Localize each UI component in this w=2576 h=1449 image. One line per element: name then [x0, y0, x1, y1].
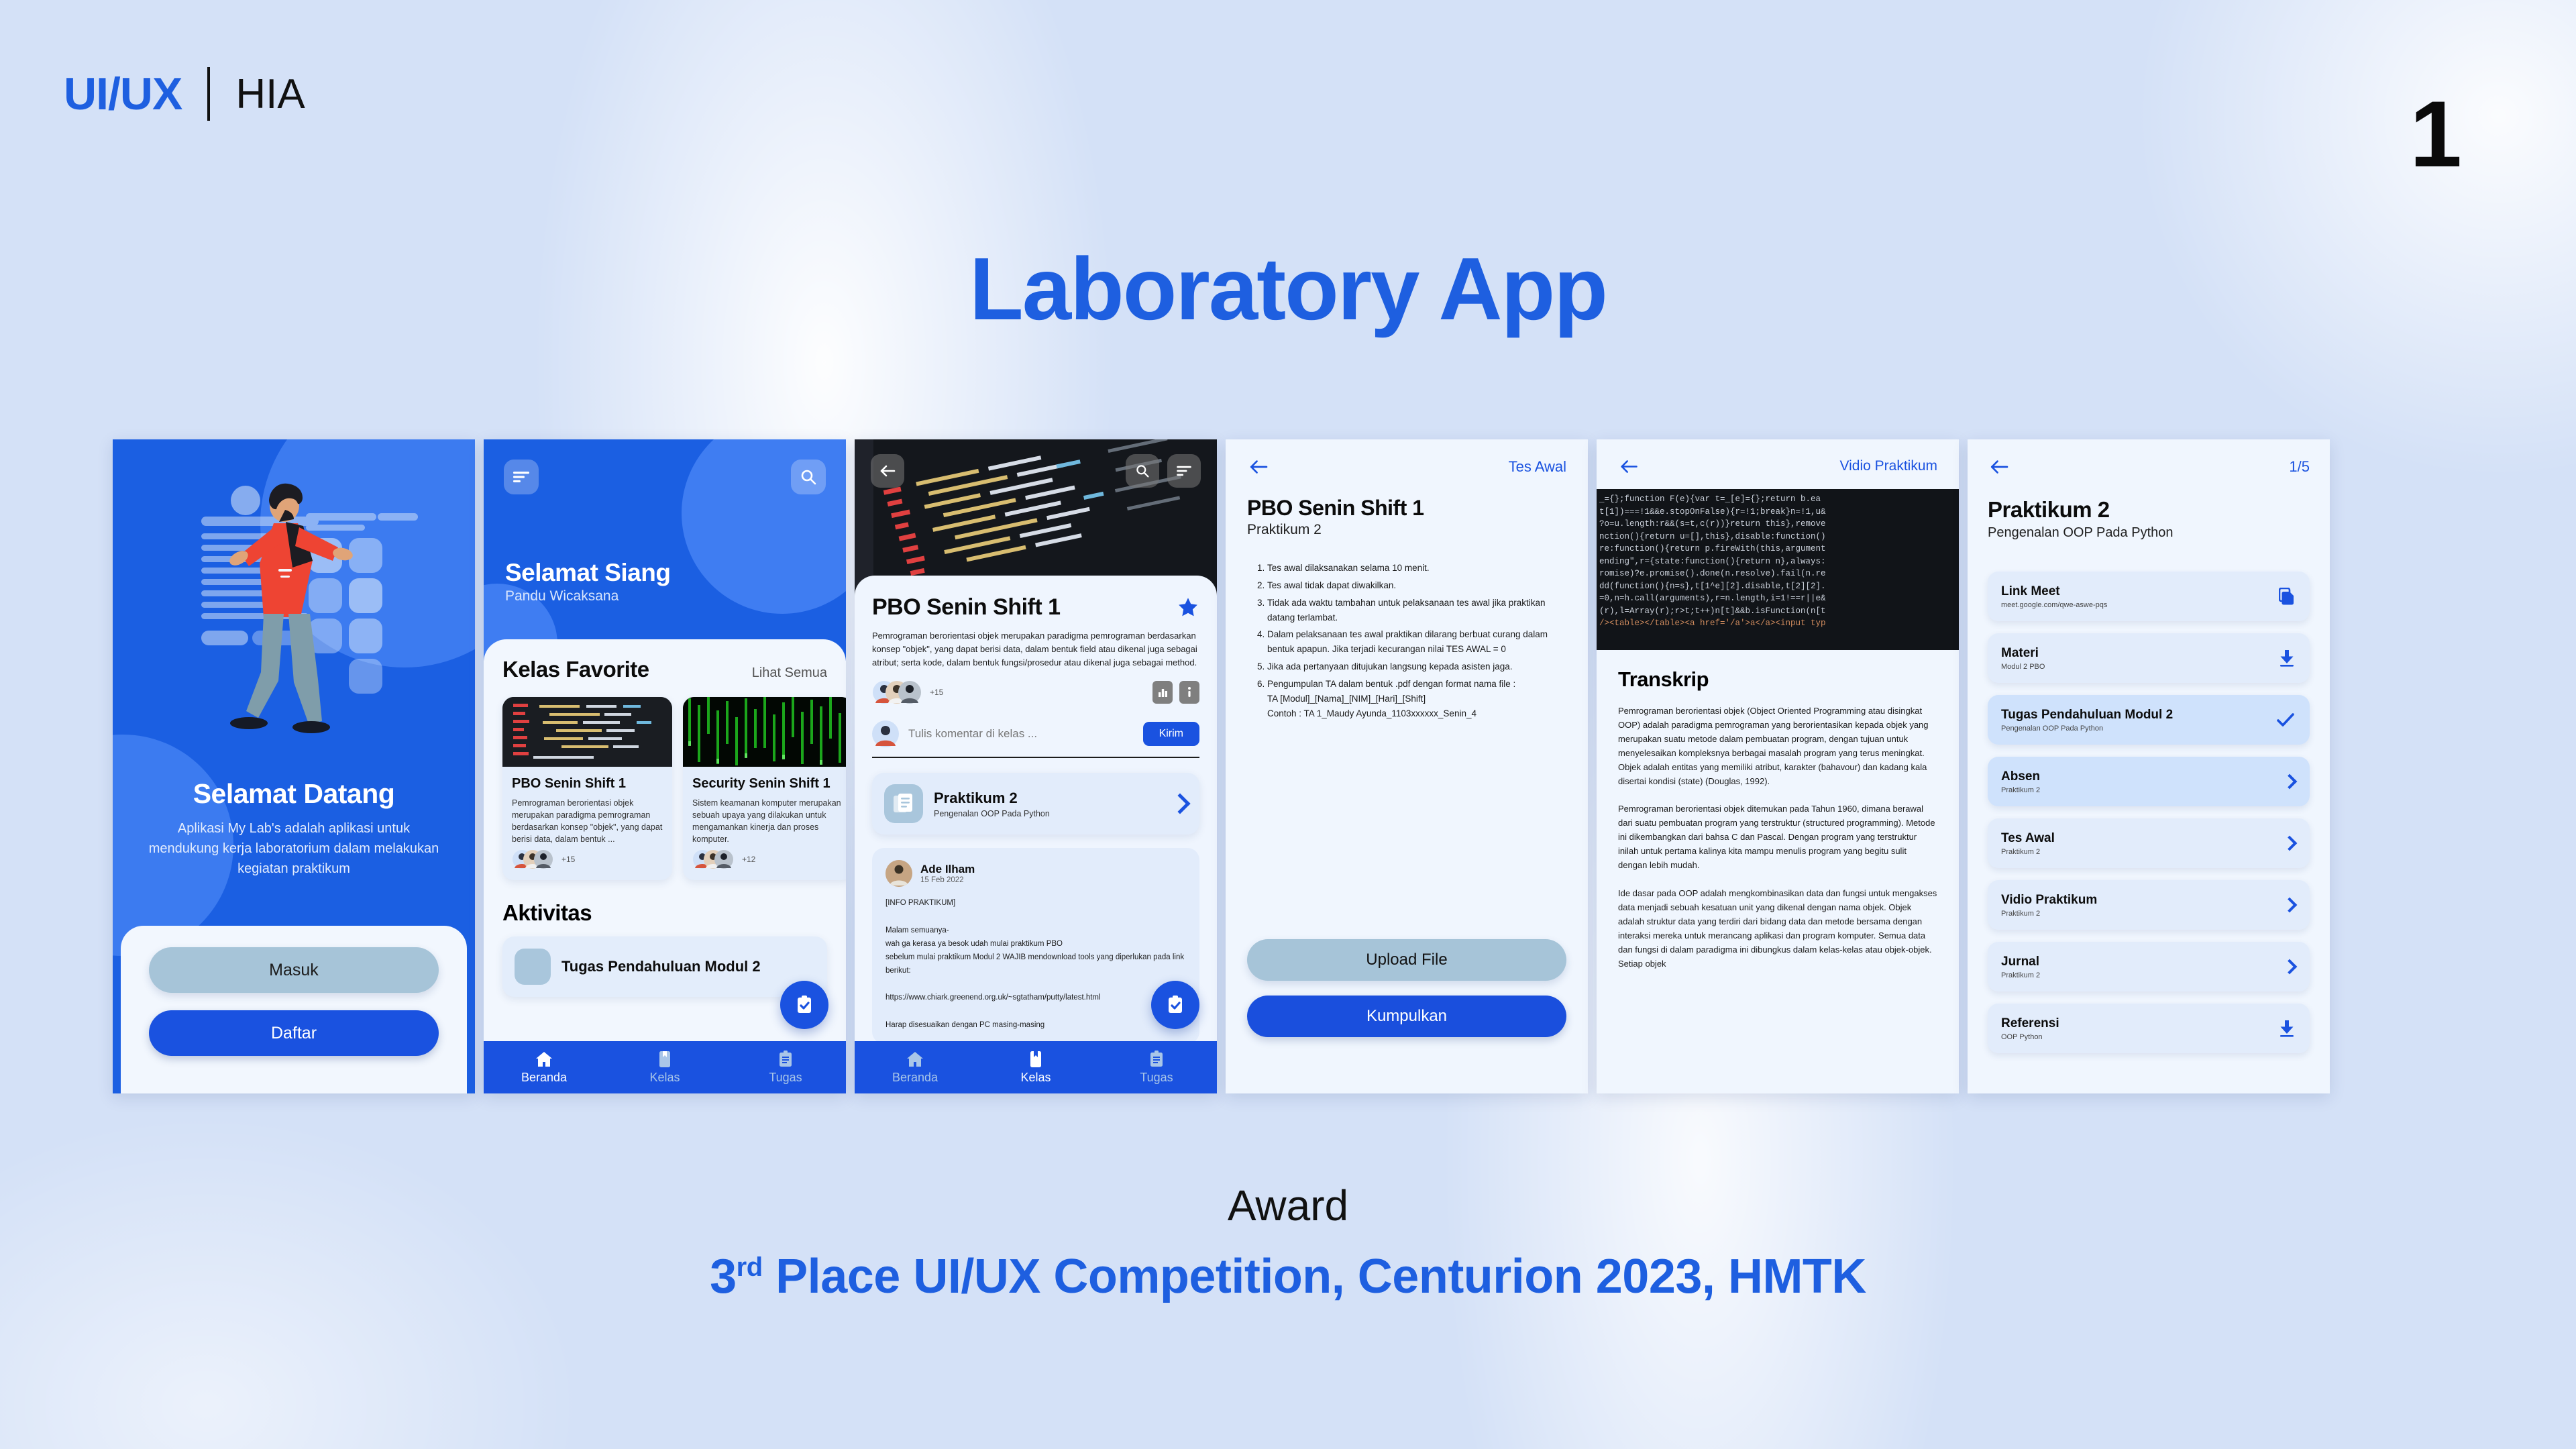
menu-icon[interactable]	[1167, 454, 1201, 488]
menu-row-link-meet[interactable]: Link Meet meet.google.com/qwe-aswe-pqs	[1988, 572, 2310, 621]
code-line: romise)?e.promise().done(n.resolve).fail…	[1597, 568, 1959, 580]
chevron-right-icon	[2282, 959, 2298, 975]
page-indicator: 1/5	[2289, 458, 2310, 476]
award-text: 3rd Place UI/UX Competition, Centurion 2…	[0, 1249, 2576, 1304]
home-topbar	[504, 460, 826, 494]
award-title: Place UI/UX Competition, Centurion 2023,…	[763, 1250, 1866, 1303]
post-date: 15 Feb 2022	[920, 876, 975, 884]
home-greeting-block: Selamat Siang Pandu Wicaksana	[505, 559, 670, 604]
praktikum-topbar: 1/5	[1988, 458, 2310, 476]
chevron-right-icon	[1169, 794, 1190, 814]
menu-row-title: Vidio Praktikum	[2001, 893, 2097, 908]
menu-row-text: Link Meet meet.google.com/qwe-aswe-pqs	[2001, 584, 2107, 609]
post-header: Ade Ilham 15 Feb 2022	[885, 860, 1186, 887]
tes-awal-actions: Upload File Kumpulkan	[1247, 939, 1566, 1037]
code-line: _={};function F(e){var t=_[e]={};return …	[1597, 493, 1959, 506]
nav-item-kelas[interactable]: Kelas	[604, 1041, 725, 1093]
menu-row-title: Tugas Pendahuluan Modul 2	[2001, 708, 2173, 722]
praktikum-menu-subtitle: Pengenalan OOP Pada Python	[1988, 525, 2310, 541]
praktikum-menu-list: Link Meet meet.google.com/qwe-aswe-pqs M…	[1988, 572, 2310, 1053]
code-line: nction(){return u=[],this},disable:funct…	[1597, 531, 1959, 543]
favorite-class-cards: PBO Senin Shift 1 Pemrograman berorienta…	[502, 697, 827, 880]
nav-label: Kelas	[649, 1071, 680, 1085]
award-label: Award	[0, 1181, 2576, 1230]
avatar-group	[692, 849, 737, 869]
clipboard-icon	[778, 1051, 793, 1068]
nav-item-beranda[interactable]: Beranda	[855, 1041, 975, 1093]
transcript-paragraph: Pemrograman berorientasi objek (Object O…	[1618, 704, 1937, 788]
menu-row-subtitle: meet.google.com/qwe-aswe-pqs	[2001, 601, 2107, 609]
menu-row-title: Jurnal	[2001, 955, 2040, 969]
class-card[interactable]: PBO Senin Shift 1 Pemrograman berorienta…	[502, 697, 672, 880]
class-meta-actions	[1152, 681, 1199, 704]
avatar	[885, 860, 912, 887]
rule-item: Jika ada pertanyaan ditujukan langsung k…	[1267, 659, 1566, 674]
search-icon[interactable]	[1126, 454, 1159, 488]
topbar-title: Tes Awal	[1509, 458, 1566, 476]
info-icon[interactable]	[1179, 681, 1199, 704]
nav-item-beranda[interactable]: Beranda	[484, 1041, 604, 1093]
send-comment-button[interactable]: Kirim	[1143, 722, 1199, 746]
code-line: dd(function(){n=s},t[1^e][2].disable,t[2…	[1597, 580, 1959, 593]
chevron-right-icon	[2282, 898, 2298, 913]
phone-screen-home: Selamat Siang Pandu Wicaksana Kelas Favo…	[484, 439, 846, 1093]
class-card-desc: Pemrograman berorientasi objek merupakan…	[512, 797, 663, 845]
home-icon	[535, 1051, 553, 1068]
phone-screen-tes-awal: Tes Awal PBO Senin Shift 1 Praktikum 2 T…	[1226, 439, 1588, 1093]
menu-row-tes-awal[interactable]: Tes Awal Praktikum 2	[1988, 818, 2310, 868]
page-number: 1	[2410, 87, 2462, 181]
award-ordinal-suffix: rd	[737, 1252, 763, 1282]
welcome-description: Aplikasi My Lab's adalah aplikasi untuk …	[148, 818, 440, 879]
brand-hia-label: HIA	[235, 70, 305, 118]
nav-label: Kelas	[1020, 1071, 1051, 1085]
add-task-fab[interactable]	[780, 981, 828, 1029]
bookmark-icon	[658, 1051, 672, 1068]
nav-label: Beranda	[521, 1071, 567, 1085]
clipboard-check-icon	[1165, 994, 1186, 1016]
post-author: Ade Ilham	[920, 863, 975, 876]
avatar	[872, 720, 899, 747]
upload-file-button[interactable]: Upload File	[1247, 939, 1566, 981]
menu-row-text: Referensi OOP Python	[2001, 1016, 2059, 1041]
menu-row-text: Materi Modul 2 PBO	[2001, 646, 2045, 671]
rule-item: Tes awal dilaksanakan selama 10 menit.	[1267, 561, 1566, 576]
phone-screen-vidio-praktikum: Vidio Praktikum _={};function F(e){var t…	[1597, 439, 1959, 1093]
tes-awal-rules: Tes awal dilaksanakan selama 10 menit. T…	[1247, 561, 1566, 721]
back-icon[interactable]	[1618, 459, 1640, 474]
clipboard-check-icon	[794, 994, 815, 1016]
nav-label: Beranda	[892, 1071, 938, 1085]
nav-item-tugas[interactable]: Tugas	[725, 1041, 846, 1093]
brand-uiux-label: UI/UX	[64, 68, 182, 120]
nav-item-kelas[interactable]: Kelas	[975, 1041, 1096, 1093]
rule-item: Tes awal tidak dapat diwakilkan.	[1267, 578, 1566, 593]
class-title-row: PBO Senin Shift 1	[872, 594, 1199, 621]
class-card-title: PBO Senin Shift 1	[512, 776, 663, 792]
menu-row-jurnal[interactable]: Jurnal Praktikum 2	[1988, 942, 2310, 991]
menu-row-vidio-praktikum[interactable]: Vidio Praktikum Praktikum 2	[1988, 880, 2310, 930]
praktikum-menu-title: Praktikum 2	[1988, 497, 2310, 523]
back-icon[interactable]	[1988, 459, 2010, 475]
class-card-body: PBO Senin Shift 1 Pemrograman berorienta…	[502, 767, 672, 880]
menu-row-text: Tes Awal Praktikum 2	[2001, 831, 2055, 856]
post-body: [INFO PRAKTIKUM] Malam semuanya- wah ga …	[885, 896, 1186, 1031]
rule-item: Tidak ada waktu tambahan untuk pelaksana…	[1267, 596, 1566, 625]
tes-awal-topbar: Tes Awal	[1247, 458, 1566, 476]
code-line: =0,n=h.call(arguments),r=n.length,i=1!==…	[1597, 592, 1959, 605]
brand-header: UI/UX HIA	[64, 67, 305, 121]
menu-row-subtitle: Praktikum 2	[2001, 971, 2040, 979]
rule-format-example: Contoh : TA 1_Maudy Ayunda_1103xxxxxx_Se…	[1267, 706, 1566, 721]
nav-label: Tugas	[1140, 1071, 1173, 1085]
menu-row-title: Tes Awal	[2001, 831, 2055, 846]
page-title: Laboratory App	[0, 238, 2576, 339]
transcript-paragraph: Ide dasar pada OOP adalah mengkombinasik…	[1618, 886, 1937, 971]
activity-section-title: Aktivitas	[502, 900, 827, 926]
menu-row-subtitle: Praktikum 2	[2001, 786, 2040, 794]
menu-row-title: Materi	[2001, 646, 2045, 661]
menu-row-text: Absen Praktikum 2	[2001, 769, 2040, 794]
class-card[interactable]: Security Senin Shift 1 Sistem keamanan k…	[683, 697, 846, 880]
rule-item: Dalam pelaksanaan tes awal praktikan dil…	[1267, 627, 1566, 657]
see-all-link[interactable]: Lihat Semua	[752, 665, 827, 681]
check-icon	[2276, 712, 2295, 728]
comment-input[interactable]: Tulis komentar di kelas ...	[908, 727, 1134, 741]
code-line: (r),l=Array(r);r>t;t++)n[t]&&b.isFunctio…	[1597, 605, 1959, 618]
video-player[interactable]: _={};function F(e){var t=_[e]={};return …	[1597, 489, 1959, 650]
phone-screen-praktikum-menu: 1/5 Praktikum 2 Pengenalan OOP Pada Pyth…	[1968, 439, 2330, 1093]
praktikum-title: Praktikum 2	[934, 790, 1162, 807]
praktikum-card-text: Praktikum 2 Pengenalan OOP Pada Python	[934, 790, 1162, 818]
menu-row-subtitle: Modul 2 PBO	[2001, 663, 2045, 671]
class-member-count: +12	[742, 855, 755, 864]
chevron-right-icon	[2282, 836, 2298, 851]
search-icon[interactable]	[791, 460, 826, 494]
award-ordinal: 3	[710, 1250, 737, 1303]
transcript-title: Transkrip	[1618, 667, 1937, 692]
download-icon[interactable]	[2279, 1020, 2295, 1037]
nav-label: Tugas	[769, 1071, 802, 1085]
login-button[interactable]: Masuk	[149, 947, 439, 993]
code-line: ?o=u.length:r&&(s=t,c(r))}return this},r…	[1597, 518, 1959, 531]
class-card-desc: Sistem keamanan komputer merupakan sebua…	[692, 797, 843, 845]
menu-row-title: Referensi	[2001, 1016, 2059, 1031]
menu-row-text: Vidio Praktikum Praktikum 2	[2001, 893, 2097, 918]
brand-divider	[207, 67, 210, 121]
code-line: t[1])===!1&&e.stopOnFalse){r=!1;break}n=…	[1597, 506, 1959, 519]
slide-canvas: UI/UX HIA 1 Laboratory App	[0, 0, 2576, 1449]
stats-icon[interactable]	[1152, 681, 1173, 704]
clipboard-icon	[1149, 1051, 1164, 1068]
copy-icon[interactable]	[2279, 588, 2295, 605]
class-thumbnail	[683, 697, 846, 767]
menu-row-subtitle: Praktikum 2	[2001, 848, 2055, 856]
welcome-title: Selamat Datang	[113, 778, 475, 810]
register-button[interactable]: Daftar	[149, 1010, 439, 1056]
menu-row-subtitle: Praktikum 2	[2001, 910, 2097, 918]
class-member-count: +15	[930, 688, 943, 697]
chevron-right-icon	[2282, 774, 2298, 790]
document-icon	[515, 949, 551, 985]
praktikum-subtitle: Pengenalan OOP Pada Python	[934, 809, 1162, 818]
menu-row-tugas-pendahuluan[interactable]: Tugas Pendahuluan Modul 2 Pengenalan OOP…	[1988, 695, 2310, 745]
add-task-fab[interactable]	[1151, 981, 1199, 1029]
menu-row-referensi[interactable]: Referensi OOP Python	[1988, 1004, 2310, 1053]
class-card-footer: +12	[692, 849, 843, 869]
nav-item-tugas[interactable]: Tugas	[1096, 1041, 1217, 1093]
favorite-section-title: Kelas Favorite	[502, 657, 649, 682]
tes-awal-title: PBO Senin Shift 1	[1247, 496, 1566, 521]
activity-item[interactable]: Tugas Pendahuluan Modul 2	[502, 936, 827, 997]
download-icon[interactable]	[2279, 649, 2295, 667]
tes-awal-subtitle: Praktikum 2	[1247, 522, 1566, 538]
menu-row-title: Absen	[2001, 769, 2040, 784]
class-card-title: Security Senin Shift 1	[692, 776, 843, 792]
submit-button[interactable]: Kumpulkan	[1247, 996, 1566, 1037]
star-icon[interactable]	[1177, 596, 1199, 619]
rule-format-template: TA [Modul]_[Nama]_[NIM]_[Hari]_[Shift]	[1267, 692, 1566, 706]
phone-screen-welcome: Selamat Datang Aplikasi My Lab's adalah …	[113, 439, 475, 1093]
phone-mockup-strip: Selamat Datang Aplikasi My Lab's adalah …	[113, 439, 2330, 1093]
bottom-navigation: Beranda Kelas Tugas	[484, 1041, 846, 1093]
comment-input-row: Tulis komentar di kelas ... Kirim	[872, 720, 1199, 758]
greeting-text: Selamat Siang	[505, 559, 670, 587]
topbar-title: Vidio Praktikum	[1839, 458, 1937, 474]
transcript-body: Pemrograman berorientasi objek (Object O…	[1618, 704, 1937, 971]
phone-screen-class-detail: PBO Senin Shift 1 Pemrograman berorienta…	[855, 439, 1217, 1093]
vidio-topbar: Vidio Praktikum	[1597, 439, 1959, 474]
back-icon[interactable]	[1247, 459, 1270, 475]
welcome-action-sheet: Masuk Daftar	[121, 926, 467, 1093]
transcript-paragraph: Pemrograman berorientasi objek ditemukan…	[1618, 802, 1937, 872]
class-post: Ade Ilham 15 Feb 2022 [INFO PRAKTIKUM] M…	[872, 848, 1199, 1043]
bookmark-icon	[1029, 1051, 1042, 1068]
class-description: Pemrograman berorientasi objek merupakan…	[872, 629, 1199, 669]
welcome-illustration	[113, 470, 475, 765]
class-topbar-actions	[1126, 454, 1201, 488]
favorite-section-header: Kelas Favorite Lihat Semua	[502, 657, 827, 682]
menu-row-subtitle: OOP Python	[2001, 1033, 2059, 1041]
avatar-group	[512, 849, 556, 869]
document-icon	[884, 784, 923, 823]
bottom-navigation: Beranda Kelas Tugas	[855, 1041, 1217, 1093]
praktikum-card[interactable]: Praktikum 2 Pengenalan OOP Pada Python	[872, 773, 1199, 835]
code-line: re:function(){return p.fireWith(this,arg…	[1597, 543, 1959, 555]
class-card-footer: +15	[512, 849, 663, 869]
activity-item-title: Tugas Pendahuluan Modul 2	[561, 958, 761, 975]
menu-row-text: Jurnal Praktikum 2	[2001, 955, 2040, 979]
home-icon	[906, 1051, 924, 1068]
class-topbar	[871, 454, 1201, 488]
menu-row-subtitle: Pengenalan OOP Pada Python	[2001, 724, 2173, 733]
menu-row-text: Tugas Pendahuluan Modul 2 Pengenalan OOP…	[2001, 708, 2173, 733]
class-card-body: Security Senin Shift 1 Sistem keamanan k…	[683, 767, 846, 880]
avatar-group	[872, 680, 924, 704]
menu-row-absen[interactable]: Absen Praktikum 2	[1988, 757, 2310, 806]
code-line: ending",r={state:function(){return n},al…	[1597, 555, 1959, 568]
class-member-count: +15	[561, 855, 575, 864]
class-thumbnail	[502, 697, 672, 767]
class-meta-row: +15	[872, 680, 1199, 704]
menu-row-title: Link Meet	[2001, 584, 2107, 599]
menu-row-materi[interactable]: Materi Modul 2 PBO	[1988, 633, 2310, 683]
class-title: PBO Senin Shift 1	[872, 594, 1061, 621]
post-author-block: Ade Ilham 15 Feb 2022	[920, 863, 975, 884]
rule-text: Pengumpulan TA dalam bentuk .pdf dengan …	[1267, 679, 1515, 689]
rule-item: Pengumpulan TA dalam bentuk .pdf dengan …	[1267, 677, 1566, 721]
user-name: Pandu Wicaksana	[505, 588, 670, 604]
menu-icon[interactable]	[504, 460, 539, 494]
code-line: /><table></table><a href='/a'>a</a><inpu…	[1597, 617, 1959, 630]
back-icon[interactable]	[871, 454, 904, 488]
class-members: +15	[872, 680, 943, 704]
